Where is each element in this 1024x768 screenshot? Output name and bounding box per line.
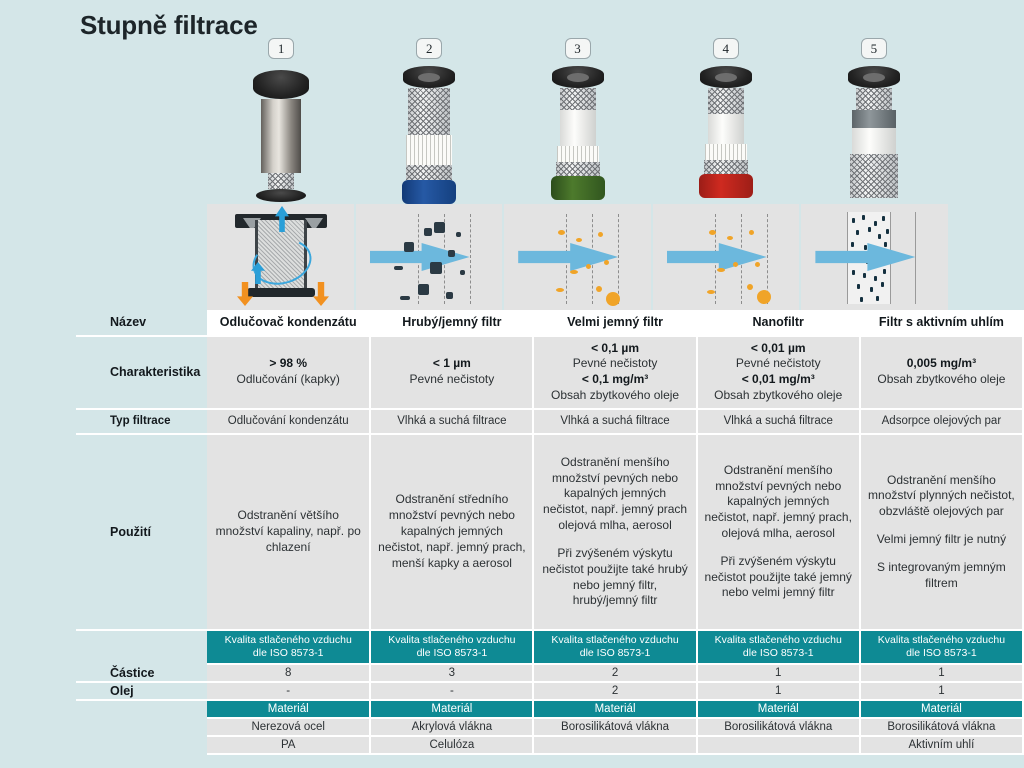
material-cell-1-5: Borosilikátová vlákna (860, 718, 1023, 736)
nazev-cell-5: Filtr s aktivním uhlím (860, 310, 1023, 336)
pouziti-cell-3: Odstranění menšího množství pevných nebo… (533, 434, 696, 630)
typ-filtrace-cell-4: Vlhká a suchá filtrace (697, 409, 860, 434)
material-cell-1-3: Borosilikátová vlákna (533, 718, 696, 736)
char-value-bold-2: < 0,1 mg/m³ (582, 372, 648, 386)
olej-cell-3: 2 (533, 682, 696, 700)
material-cell-2-5: Aktivním uhlí (860, 736, 1023, 754)
char-value-desc: Pevné nečistoty (704, 356, 853, 372)
oil-droplet-icon (604, 260, 609, 265)
cartridge-cap-icon (700, 66, 752, 88)
row-label-castice: Částice (76, 664, 207, 682)
pouziti-para-1: Odstranění menšího množství pevných nebo… (540, 455, 689, 534)
cartridge-cap-icon (552, 66, 604, 88)
char-value-desc: Obsah zbytkového oleje (867, 372, 1016, 388)
cartridge-4-nanofilter (696, 66, 756, 204)
material-bar-2: Materiál (370, 700, 533, 718)
lower-mesh (850, 154, 898, 198)
lower-mesh (556, 162, 600, 176)
particle-icon (456, 232, 461, 237)
filter-photo-1: 1 (207, 34, 355, 204)
flow-arrow-icon (518, 243, 618, 271)
char-value-bold-2: < 0,01 mg/m³ (742, 372, 815, 386)
charakteristika-cell-3: < 0,1 µm Pevné nečistoty < 0,1 mg/m³ Obs… (533, 336, 696, 409)
char-value-desc: Pevné nečistoty (540, 356, 689, 372)
char-value-bold: < 1 µm (433, 356, 471, 370)
oil-droplet-icon (749, 230, 754, 235)
cartridge-3-fine-filter (548, 66, 608, 204)
pouziti-para-2: Při zvýšeném výskytu nečistot použijte t… (704, 554, 853, 601)
particle-icon (418, 284, 429, 295)
charakteristika-cell-1: > 98 % Odlučování (kapky) (207, 336, 370, 409)
material-bar-5: Materiál (860, 700, 1023, 718)
diagram-2-coarse-fine-filter (356, 204, 503, 310)
condensate-drain-arrow-icon (313, 282, 329, 306)
cartridge-cap-icon (848, 66, 900, 88)
nazev-cell-4: Nanofiltr (697, 310, 860, 336)
particle-icon (400, 296, 410, 300)
particle-icon (460, 270, 465, 275)
row-label-spacer-2 (76, 700, 207, 718)
carbon-band (852, 110, 896, 128)
iso-bar-line2: dle ISO 8573-1 (863, 647, 1020, 660)
base-cap-red (699, 174, 753, 198)
oil-droplet-icon (558, 230, 565, 235)
iso-bar-2: Kvalita stlačeného vzduchu dle ISO 8573-… (370, 630, 533, 664)
material-cell-2-3 (533, 736, 696, 754)
typ-filtrace-cell-5: Adsorpce olejových par (860, 409, 1023, 434)
flow-arrow-icon (667, 243, 767, 271)
oil-droplet-icon (570, 270, 578, 274)
filter-photo-strip: 1 2 3 (207, 34, 948, 204)
iso-bar-5: Kvalita stlačeného vzduchu dle ISO 8573-… (860, 630, 1023, 664)
castice-cell-1: 8 (207, 664, 370, 682)
table-row-iso-quality-bar: Kvalita stlačeného vzduchu dle ISO 8573-… (76, 630, 1023, 664)
table-row-nazev: Název Odlučovač kondenzátu Hrubý/jemný f… (76, 310, 1023, 336)
cartridge-cap-icon (253, 70, 309, 99)
castice-cell-5: 1 (860, 664, 1023, 682)
oil-droplet-icon (556, 288, 564, 292)
diagram-5-activated-carbon (801, 204, 948, 310)
material-cell-2-1: PA (207, 736, 370, 754)
table-row-typ-filtrace: Typ filtrace Odlučování kondenzátu Vlhká… (76, 409, 1023, 434)
pouziti-cell-2: Odstranění středního množství pevných ne… (370, 434, 533, 630)
iso-bar-3: Kvalita stlačeného vzduchu dle ISO 8573-… (533, 630, 696, 664)
char-value-bold: 0,005 mg/m³ (907, 356, 976, 370)
cartridge-2-prefilter (399, 66, 459, 204)
stage-badge-4: 4 (713, 38, 739, 59)
cartridge-cap-icon (403, 66, 455, 88)
particle-icon (430, 262, 442, 274)
table-row-material-2: PA Celulóza Aktivním uhlí (76, 736, 1023, 754)
diagram-3-very-fine-filter (504, 204, 651, 310)
row-label-pouziti: Použití (76, 434, 207, 630)
charakteristika-cell-4: < 0,01 µm Pevné nečistoty < 0,01 mg/m³ O… (697, 336, 860, 409)
cartridge-1-condensate-separator (251, 70, 311, 202)
pouziti-para-3: S integrovaným jemným filtrem (867, 560, 1016, 592)
particle-icon (394, 266, 403, 270)
stainless-steel-body (261, 99, 301, 174)
stage-badge-2: 2 (416, 38, 442, 59)
nazev-cell-3: Velmi jemný filtr (533, 310, 696, 336)
iso-bar-line2: dle ISO 8573-1 (536, 647, 693, 660)
mesh-screen (708, 88, 744, 114)
pouziti-para-1: Odstranění většího množství kapaliny, na… (213, 508, 363, 555)
diagram-4-nanofilter (653, 204, 800, 310)
iso-bar-line2: dle ISO 8573-1 (209, 647, 367, 660)
iso-bar-line1: Kvalita stlačeného vzduchu (863, 634, 1020, 647)
char-value-desc: Pevné nečistoty (377, 372, 526, 388)
iso-bar-line1: Kvalita stlačeného vzduchu (536, 634, 693, 647)
row-label-typ-filtrace: Typ filtrace (76, 409, 207, 434)
material-cell-1-4: Borosilikátová vlákna (697, 718, 860, 736)
particle-icon (424, 228, 432, 236)
mesh-screen (856, 88, 892, 110)
pleated-media (705, 144, 747, 160)
material-cell-1-2: Akrylová vlákna (370, 718, 533, 736)
pleated-media (406, 135, 452, 165)
iso-bar-4: Kvalita stlačeného vzduchu dle ISO 8573-… (697, 630, 860, 664)
mesh-screen (408, 88, 450, 135)
char-value-bold: < 0,01 µm (751, 341, 806, 355)
char-value-bold: > 98 % (269, 356, 307, 370)
pouziti-para-1: Odstranění středního množství pevných ne… (377, 492, 526, 571)
filter-photo-3: 3 (503, 34, 651, 204)
castice-cell-3: 2 (533, 664, 696, 682)
outlet-boundary-line (915, 212, 916, 304)
base-cap-green (551, 176, 605, 200)
oil-droplet-icon (717, 268, 725, 272)
table-row-material-1: Nerezová ocel Akrylová vlákna Borosiliká… (76, 718, 1023, 736)
oil-droplet-icon (576, 238, 582, 242)
cartridge-foot-icon (256, 189, 306, 202)
row-label-olej: Olej (76, 682, 207, 700)
filtration-stages-infographic: Stupně filtrace 1 2 3 (0, 0, 1024, 768)
pouziti-cell-4: Odstranění menšího množství pevných nebo… (697, 434, 860, 630)
table-row-pouziti: Použití Odstranění většího množství kapa… (76, 434, 1023, 630)
material-cell-2-2: Celulóza (370, 736, 533, 754)
pouziti-cell-1: Odstranění většího množství kapaliny, na… (207, 434, 370, 630)
stage-badge-1: 1 (268, 38, 294, 59)
particle-icon (404, 242, 414, 252)
specs-table: Název Odlučovač kondenzátu Hrubý/jemný f… (76, 310, 1024, 755)
filter-photo-4: 4 (652, 34, 800, 204)
material-bar-3: Materiál (533, 700, 696, 718)
stage-badge-3: 3 (565, 38, 591, 59)
filter-photo-5: 5 (800, 34, 948, 204)
oil-droplet-icon (707, 290, 715, 294)
pleated-media (557, 146, 599, 162)
table-row-castice: Částice 8 3 2 1 1 (76, 664, 1023, 682)
particle-icon (434, 222, 445, 233)
filter-photo-2: 2 (355, 34, 503, 204)
separator-bottom-plate (247, 288, 315, 297)
lower-mesh (406, 165, 452, 181)
char-value-desc: Odlučování (kapky) (213, 372, 363, 388)
char-value-desc-2: Obsah zbytkového oleje (540, 388, 689, 404)
oil-droplet-icon (586, 264, 591, 269)
material-bar-1: Materiál (207, 700, 370, 718)
oil-droplet-icon (733, 262, 738, 267)
castice-cell-2: 3 (370, 664, 533, 682)
olej-cell-1: - (207, 682, 370, 700)
lower-mesh (704, 160, 748, 174)
material-bar-4: Materiál (697, 700, 860, 718)
oil-droplet-icon (727, 236, 733, 240)
particle-icon (446, 292, 453, 299)
typ-filtrace-cell-1: Odlučování kondenzátu (207, 409, 370, 434)
olej-cell-2: - (370, 682, 533, 700)
olej-cell-4: 1 (697, 682, 860, 700)
row-label-charakteristika: Charakteristika (76, 336, 207, 409)
table-row-charakteristika: Charakteristika > 98 % Odlučování (kapky… (76, 336, 1023, 409)
pouziti-para-1: Odstranění menšího množství plynných neč… (867, 473, 1016, 520)
iso-bar-line2: dle ISO 8573-1 (373, 647, 530, 660)
base-cap-blue (402, 180, 456, 204)
iso-bar-line2: dle ISO 8573-1 (700, 647, 857, 660)
membrane-line-icon (618, 214, 619, 304)
castice-cell-4: 1 (697, 664, 860, 682)
nazev-cell-1: Odlučovač kondenzátu (207, 310, 370, 336)
charakteristika-cell-2: < 1 µm Pevné nečistoty (370, 336, 533, 409)
oil-droplet-icon (598, 232, 603, 237)
white-media-band (852, 128, 896, 154)
iso-bar-line1: Kvalita stlačeného vzduchu (700, 634, 857, 647)
mesh-screen (560, 88, 596, 110)
white-media-band (560, 110, 596, 146)
typ-filtrace-cell-2: Vlhká a suchá filtrace (370, 409, 533, 434)
nazev-cell-2: Hrubý/jemný filtr (370, 310, 533, 336)
schematic-diagram-strip (207, 204, 948, 310)
material-cell-2-4 (697, 736, 860, 754)
table-row-olej: Olej - - 2 1 1 (76, 682, 1023, 700)
flow-arrow-icon (370, 243, 470, 271)
char-value-desc-2: Obsah zbytkového oleje (704, 388, 853, 404)
pouziti-para-2: Velmi jemný filtr je nutný (867, 532, 1016, 548)
mesh-screen (268, 173, 294, 188)
pouziti-para-2: Při zvýšeném výskytu nečistot použijte t… (540, 546, 689, 609)
oil-droplet-icon (755, 262, 760, 267)
pouziti-cell-5: Odstranění menšího množství plynných neč… (860, 434, 1023, 630)
typ-filtrace-cell-3: Vlhká a suchá filtrace (533, 409, 696, 434)
stage-badge-5: 5 (861, 38, 887, 59)
oil-droplet-icon (709, 230, 716, 235)
oil-droplet-icon (747, 284, 753, 290)
iso-bar-line1: Kvalita stlačeného vzduchu (373, 634, 530, 647)
particle-icon (448, 250, 455, 257)
white-media-band (708, 114, 744, 144)
charakteristika-cell-5: 0,005 mg/m³ Obsah zbytkového oleje (860, 336, 1023, 409)
row-label-spacer-4 (76, 736, 207, 754)
membrane-line-icon (470, 214, 471, 304)
specs-table-wrapper: Název Odlučovač kondenzátu Hrubý/jemný f… (0, 310, 1024, 755)
oil-droplet-large-icon (757, 290, 771, 304)
row-label-spacer (76, 630, 207, 664)
iso-bar-1: Kvalita stlačeného vzduchu dle ISO 8573-… (207, 630, 370, 664)
material-cell-1-1: Nerezová ocel (207, 718, 370, 736)
row-label-spacer-3 (76, 718, 207, 736)
olej-cell-5: 1 (860, 682, 1023, 700)
char-value-bold: < 0,1 µm (591, 341, 639, 355)
table-row-material-bar: Materiál Materiál Materiál Materiál Mate… (76, 700, 1023, 718)
pouziti-para-1: Odstranění menšího množství pevných nebo… (704, 463, 853, 542)
oil-droplet-icon (596, 286, 602, 292)
diagram-1-condensate-separator (207, 204, 354, 310)
row-label-nazev: Název (76, 310, 207, 336)
cartridge-5-activated-carbon (844, 66, 904, 204)
iso-bar-line1: Kvalita stlačeného vzduchu (209, 634, 367, 647)
